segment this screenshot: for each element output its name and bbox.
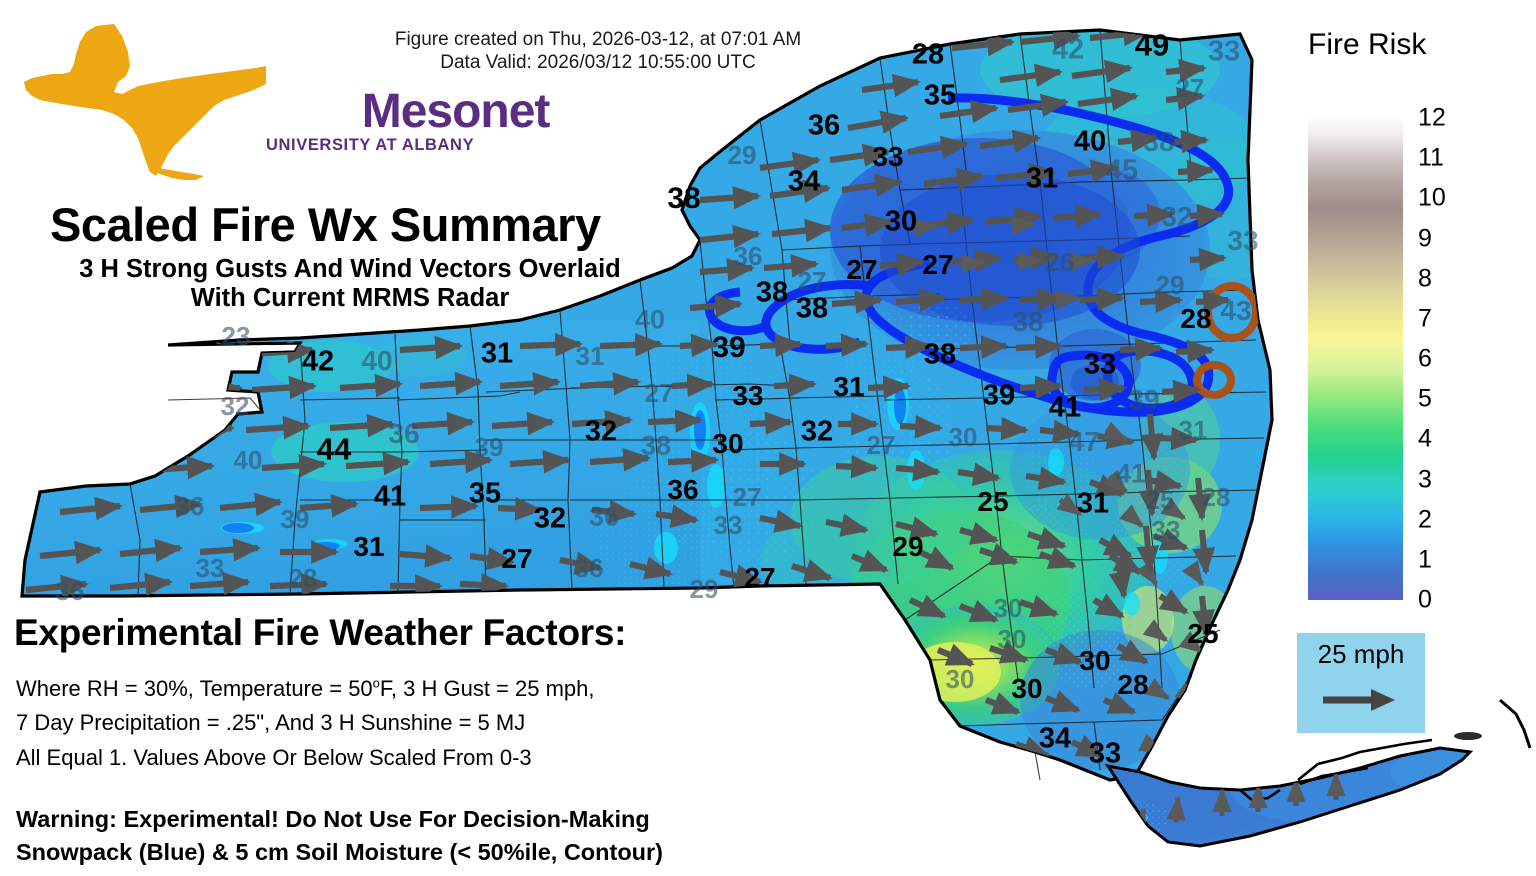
gust-label: 38 [924,341,956,370]
warning-block: Warning: Experimental! Do Not Use For De… [16,803,663,870]
gust-label: 32 [534,505,566,534]
colorbar-tick-10: 10 [1418,186,1446,211]
colorbar-tick-5: 5 [1418,387,1432,412]
colorbar-tick-8: 8 [1418,266,1432,291]
logo-nys-text: NYS [266,85,362,138]
gust-label: 39 [475,434,504,460]
gust-label: 38 [1012,308,1043,336]
gust-label: 28 [289,565,318,591]
gust-label: 27 [1176,75,1205,101]
gust-label: 36 [575,555,604,581]
gust-label: 32 [801,418,833,447]
gust-label: 30 [946,666,975,692]
gust-label: 30 [949,424,978,450]
gust-label: 31 [353,533,384,561]
new-york-state-silhouette-icon [18,22,268,182]
gust-label: 27 [798,268,827,294]
warning-line-1: Warning: Experimental! Do Not Use For De… [16,803,663,836]
gust-label: 38 [641,433,671,460]
gust-label: 30 [1079,647,1110,675]
gust-label: 34 [1039,725,1071,754]
gust-label: 41 [1049,394,1081,423]
colorbar-tick-7: 7 [1418,306,1432,331]
gust-label: 39 [712,333,745,363]
nys-mesonet-logo: NYSMesonet UNIVERSITY AT ALBANY [18,22,398,182]
colorbar-tick-6: 6 [1418,347,1432,372]
gust-label: 40 [234,447,263,473]
gust-label: 36 [56,578,85,604]
logo-mesonet-text: Mesonet [362,85,550,138]
colorbar-tick-0: 0 [1418,588,1432,613]
gust-label: 30 [885,208,917,237]
gust-label: 25 [1187,620,1218,648]
gust-label: 40 [1074,128,1106,157]
gust-label: 36 [176,493,205,519]
gust-label: 45 [1106,157,1138,186]
gust-label: 31 [833,373,864,401]
factors-line-2: 7 Day Precipitation = .25", And 3 H Suns… [16,706,595,740]
data-valid-line: Data Valid: 2026/03/12 10:55:00 UTC [348,51,848,74]
subtitle-line-2: With Current MRMS Radar [20,284,680,313]
gust-label: 42 [1052,36,1084,65]
wind-legend-label: 25 mph [1297,639,1425,670]
gust-label: 47 [1068,428,1099,456]
gust-label: 49 [1135,30,1169,61]
gust-label: 27 [501,545,532,573]
fire-risk-colorbar [1308,118,1403,600]
gust-label: 28 [912,41,944,70]
gust-label: 43 [1220,297,1251,325]
gust-label: 30 [712,430,743,458]
gust-label: 29 [1156,272,1185,298]
gust-label: 39 [983,382,1015,411]
gust-label: 35 [469,480,501,509]
colorbar-tick-3: 3 [1418,467,1432,492]
gust-label: 28 [1202,484,1231,510]
gust-label: 38 [667,184,700,214]
gust-label: 27 [922,251,953,279]
gust-label: 29 [690,576,719,602]
gust-label: 36 [808,112,840,141]
gust-label: 33 [1089,740,1121,769]
gust-label: 32 [585,418,617,447]
wind-vector-legend: 25 mph [1297,633,1425,733]
right-arrow-icon [1321,685,1401,715]
gust-label: 38 [796,295,828,324]
gust-label: 39 [1128,386,1159,414]
degree-symbol: o [373,676,380,691]
gust-label: 40 [361,347,392,375]
gust-label: 42 [302,348,334,377]
gust-label: 25 [1146,487,1175,513]
gust-label: 27 [744,564,775,592]
gust-label: 26 [1046,249,1075,275]
colorbar-tick-12: 12 [1418,106,1446,131]
colorbar-tick-2: 2 [1418,507,1432,532]
gust-label: 41 [374,483,406,512]
colorbar-tick-11: 11 [1418,146,1444,171]
gust-label: 34 [788,168,820,197]
gust-label: 27 [846,256,877,284]
page-title: Scaled Fire Wx Summary [50,197,601,252]
gust-label: 32 [1161,203,1192,231]
gust-label: 31 [481,340,513,369]
colorbar-tick-labels: 1211109876543210 [1418,118,1478,600]
gust-label: 29 [728,142,757,168]
gust-label: 33 [1208,38,1240,67]
gust-label: 33 [1084,351,1116,380]
warning-line-2: Snowpack (Blue) & 5 cm Soil Moisture (< … [16,836,663,869]
gust-label: 28 [1180,305,1211,333]
gust-label: 33 [1152,517,1181,543]
gust-label: 28 [1117,671,1148,699]
gust-label: 27 [645,380,674,406]
factors-line-1a: Where RH = 30%, Temperature = 50 [16,676,373,701]
logo-university-text: UNIVERSITY AT ALBANY [266,136,474,155]
gust-label: 44 [317,434,351,465]
gust-label: 30 [994,595,1023,621]
gust-label: 31 [576,343,605,369]
gust-label: 32 [221,393,250,419]
gust-label: 29 [892,533,923,561]
gust-label: 31 [1077,490,1109,519]
factors-line-1b: F, 3 H Gust = 25 mph, [380,676,595,701]
gust-label: 33 [732,382,763,410]
gust-label: 30 [1011,675,1042,703]
gust-label: 39 [281,506,310,532]
gust-label: 35 [924,82,956,111]
gust-label: 31 [1179,417,1208,443]
subtitle-line-1: 3 H Strong Gusts And Wind Vectors Overla… [20,255,680,284]
gust-label: 31 [1026,165,1058,194]
gust-label: 33 [714,512,743,538]
logo-wordmark: NYSMesonet UNIVERSITY AT ALBANY [266,84,549,139]
gust-label: 27 [867,432,896,458]
colorbar-tick-9: 9 [1418,226,1432,251]
gust-label: 27 [733,484,762,510]
gust-label: 41 [1116,461,1146,488]
gust-label: 23 [222,323,251,349]
gust-label: 36 [667,476,698,504]
gust-label: 30 [998,626,1027,652]
gust-label: 36 [734,243,763,269]
gust-label: 38 [1143,128,1174,156]
factors-line-3: All Equal 1. Values Above Or Below Scale… [16,741,595,775]
gust-label: 36 [388,420,419,448]
colorbar-tick-4: 4 [1418,427,1432,452]
factors-line-1: Where RH = 30%, Temperature = 50oF, 3 H … [16,672,595,706]
gust-label: 33 [196,555,225,581]
colorbar-tick-1: 1 [1418,547,1432,572]
page-subtitle: 3 H Strong Gusts And Wind Vectors Overla… [20,255,680,312]
gust-label: 25 [977,488,1008,516]
factors-description: Where RH = 30%, Temperature = 50oF, 3 H … [16,672,595,775]
timestamp-block: Figure created on Thu, 2026-03-12, at 07… [348,28,848,74]
gust-label: 33 [1227,227,1258,255]
gust-label: 36 [589,504,619,531]
gust-label: 38 [756,279,788,308]
figure-created-line: Figure created on Thu, 2026-03-12, at 07… [348,28,848,51]
factors-heading: Experimental Fire Weather Factors: [14,612,626,654]
gust-label: 33 [872,143,903,171]
colorbar-title: Fire Risk [1308,28,1426,62]
